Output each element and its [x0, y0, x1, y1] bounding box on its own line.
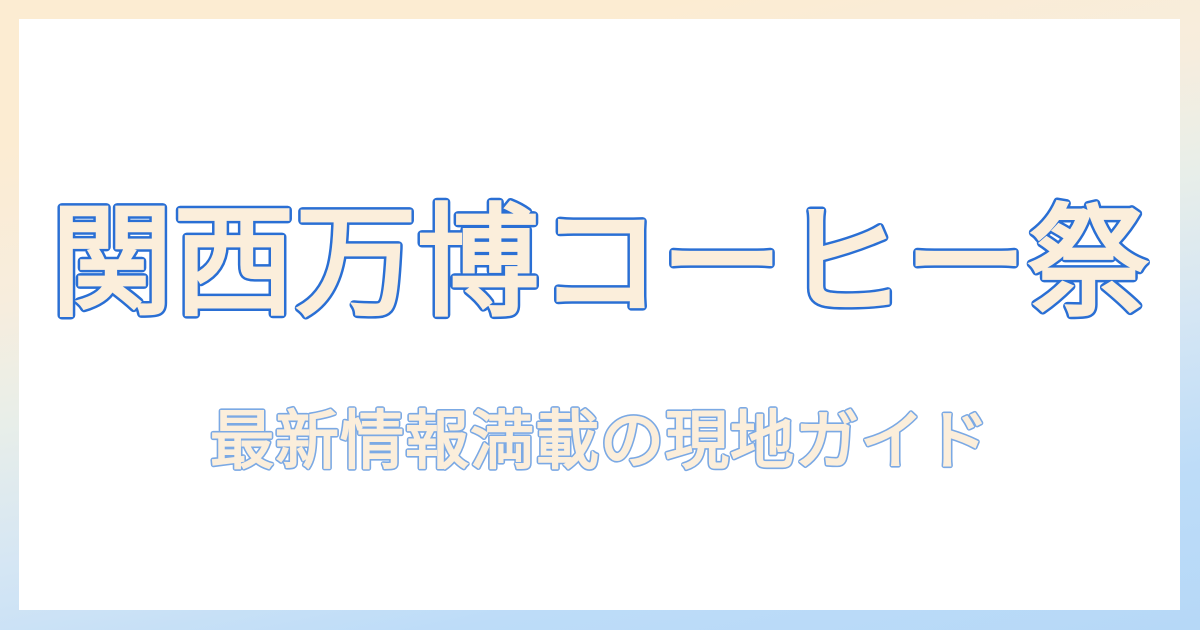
- title-artwork: 関西万博コーヒー祭: [20, 187, 1180, 347]
- banner-frame: 関西万博コーヒー祭 最新情報満載の現地ガイド: [0, 0, 1200, 630]
- banner-card: 関西万博コーヒー祭 最新情報満載の現地ガイド: [19, 19, 1180, 610]
- title-text: 関西万博コーヒー祭: [51, 192, 1150, 334]
- banner-subtitle: 最新情報満載の現地ガイド: [19, 395, 1180, 495]
- banner-title: 関西万博コーヒー祭: [19, 187, 1180, 347]
- subtitle-artwork: 最新情報満載の現地ガイド: [100, 395, 1100, 489]
- subtitle-text: 最新情報満載の現地ガイド: [210, 405, 990, 479]
